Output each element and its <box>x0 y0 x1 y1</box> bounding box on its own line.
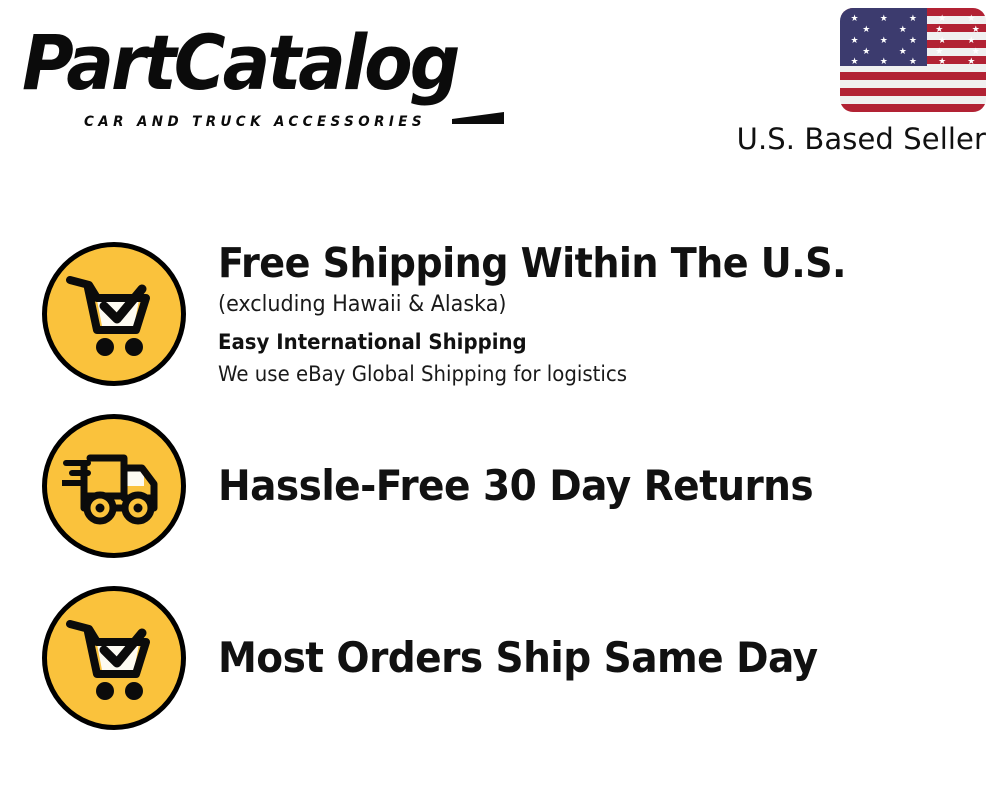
shipping-info-banner: PartCatalog CAR AND TRUCK ACCESSORIES ★★… <box>0 0 1000 800</box>
feature-list: Free Shipping Within The U.S. (excluding… <box>0 228 1000 744</box>
us-flag-icon: ★★★★★ ★★★★ ★★★★★ ★★★★ ★★★★★ <box>840 8 986 112</box>
feature-row-returns: Hassle-Free 30 Day Returns <box>0 400 1000 572</box>
brand-tagline: CAR AND TRUCK ACCESSORIES <box>84 114 426 130</box>
feature-row-free-shipping: Free Shipping Within The U.S. (excluding… <box>0 228 1000 400</box>
feature-title: Free Shipping Within The U.S. <box>218 238 945 288</box>
feature-title: Hassle-Free 30 Day Returns <box>218 461 945 511</box>
shopping-cart-check-icon <box>42 586 186 730</box>
feature-subtitle: We use eBay Global Shipping for logistic… <box>218 359 953 390</box>
feature-subtitle-strong: Easy International Shipping <box>218 326 953 359</box>
feature-text-same-day-ship: Most Orders Ship Same Day <box>218 633 1000 683</box>
brand-logo[interactable]: PartCatalog CAR AND TRUCK ACCESSORIES <box>22 24 492 119</box>
feature-text-returns: Hassle-Free 30 Day Returns <box>218 461 1000 511</box>
feature-row-same-day-ship: Most Orders Ship Same Day <box>0 572 1000 744</box>
us-based-seller-label: U.S. Based Seller <box>686 121 986 157</box>
us-based-seller-block: ★★★★★ ★★★★ ★★★★★ ★★★★ ★★★★★ U.S. Based S… <box>686 8 986 157</box>
feature-title: Most Orders Ship Same Day <box>218 633 945 683</box>
brand-wordmark: PartCatalog <box>22 20 457 106</box>
logo-swoosh-decoration <box>452 112 504 124</box>
delivery-truck-icon <box>42 414 186 558</box>
feature-note: (excluding Hawaii & Alaska) <box>218 288 953 322</box>
feature-text-free-shipping: Free Shipping Within The U.S. (excluding… <box>218 238 1000 390</box>
shopping-cart-check-icon <box>42 242 186 386</box>
